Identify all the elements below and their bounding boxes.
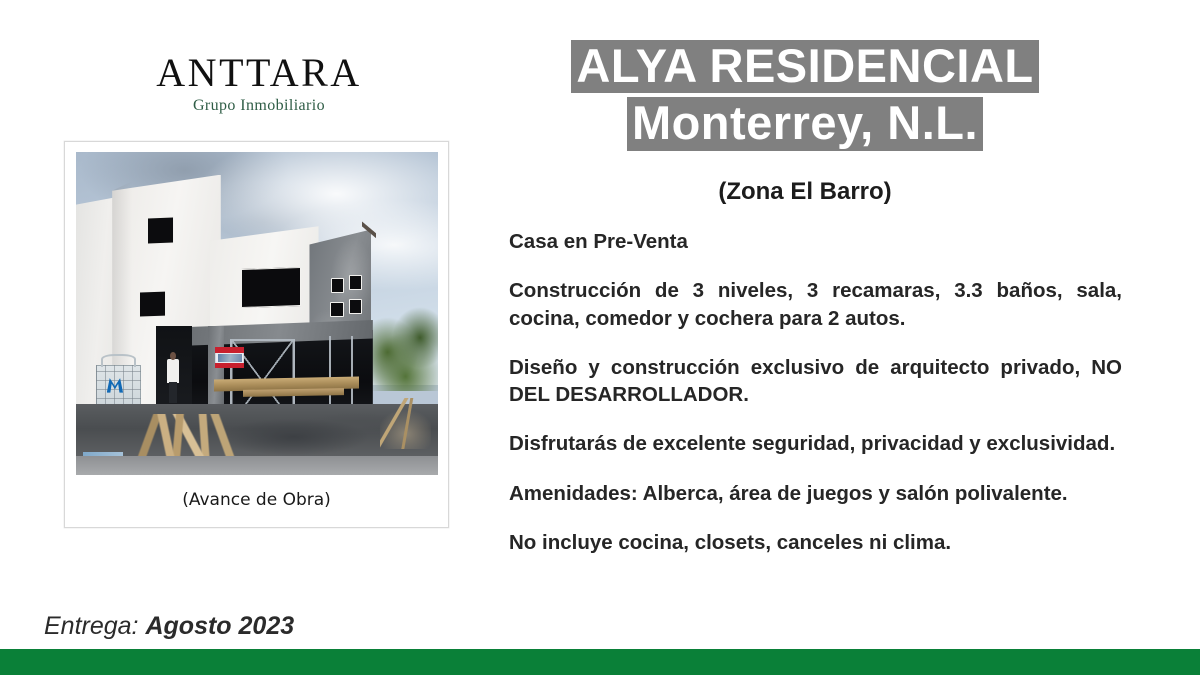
description-paragraph: Diseño y construcción exclusivo de arqui… xyxy=(509,354,1122,409)
logo-tagline: Grupo Inmobiliario xyxy=(64,97,454,115)
middle-large-window xyxy=(241,267,301,308)
photo-frame: (Avance de Obra) xyxy=(64,141,449,528)
description-paragraph: Construcción de 3 niveles, 3 recamaras, … xyxy=(509,277,1122,332)
title-block: ALYA RESIDENCIAL Monterrey, N.L. xyxy=(472,40,1138,151)
title-line-2: Monterrey, N.L. xyxy=(627,97,983,150)
site-sign-top-bar xyxy=(215,347,244,352)
tote-cage-top xyxy=(101,354,135,367)
description-paragraph: Casa en Pre-Venta xyxy=(509,228,1122,255)
title-line-2-wrapper: Monterrey, N.L. xyxy=(472,97,1138,150)
grey-window-1 xyxy=(331,278,344,293)
grey-window-4 xyxy=(349,299,362,314)
zone-subtitle: (Zona El Barro) xyxy=(472,178,1138,206)
roadway xyxy=(76,456,438,475)
slide-canvas: ANTTARA Grupo Inmobiliario xyxy=(0,0,1200,675)
delivery-line: Entrega: Agosto 2023 xyxy=(44,612,294,641)
wood-debris-right xyxy=(380,398,431,450)
title-line-1: ALYA RESIDENCIAL xyxy=(571,40,1038,93)
description-body: Casa en Pre-Venta Construcción de 3 nive… xyxy=(509,228,1122,556)
photo-caption: (Avance de Obra) xyxy=(65,490,448,510)
worker-legs xyxy=(169,382,178,403)
description-paragraph: No incluye cocina, closets, canceles ni … xyxy=(509,529,1122,556)
tower-window-lower xyxy=(139,290,166,317)
construction-progress-photo xyxy=(76,152,438,475)
worker-shirt xyxy=(167,359,179,383)
description-paragraph: Disfrutarás de excelente seguridad, priv… xyxy=(509,430,1122,457)
logo-wordmark: ANTTARA xyxy=(64,52,454,94)
site-sign-bottom-bar xyxy=(215,363,244,368)
trees-region xyxy=(366,294,438,391)
tower-window-upper xyxy=(147,216,174,244)
delivery-value: Agosto 2023 xyxy=(145,612,294,640)
grey-window-2 xyxy=(349,275,362,290)
company-logo: ANTTARA Grupo Inmobiliario xyxy=(64,52,454,115)
footer-green-bar xyxy=(0,649,1200,675)
description-paragraph: Amenidades: Alberca, área de juegos y sa… xyxy=(509,480,1122,507)
site-sign-image xyxy=(218,354,242,362)
crane-arm xyxy=(362,220,376,239)
grey-window-3 xyxy=(330,302,343,317)
delivery-label: Entrega: xyxy=(44,612,139,640)
